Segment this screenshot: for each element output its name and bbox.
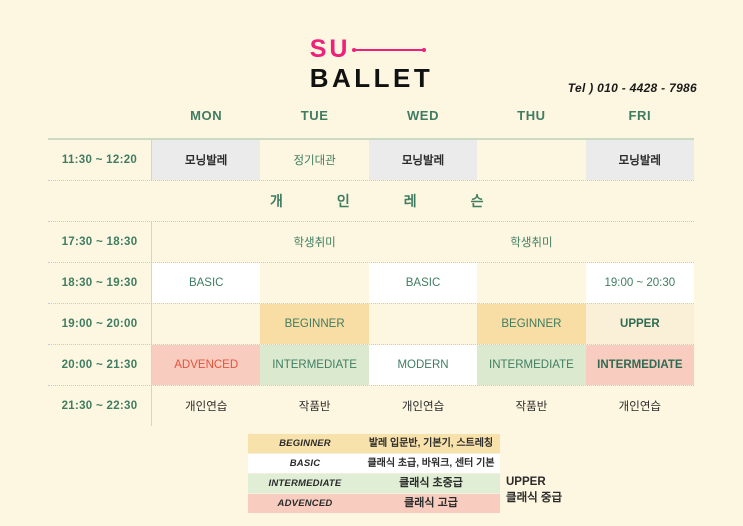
schedule-table: MON TUE WED THU FRI 11:30 ~ 12:20 모닝발레 정…: [48, 108, 694, 426]
row-time-label: 20:00 ~ 21:30: [48, 345, 152, 385]
legend-level-name: ADVENCED: [248, 494, 362, 513]
legend-row: BASIC 클래식 초급, 바워크, 센터 기본: [248, 454, 500, 474]
schedule-cell[interactable]: UPPER: [586, 304, 694, 344]
legend-row: ADVENCED 클래식 고급: [248, 494, 500, 513]
day-header-mon: MON: [152, 108, 260, 134]
schedule-cell[interactable]: 개인연습: [152, 386, 260, 426]
schedule-row: 17:30 ~ 18:30 학생취미 학생취미: [48, 222, 694, 263]
private-lesson-char: 인: [337, 191, 350, 211]
private-lesson-char: 레: [404, 191, 417, 211]
schedule-row: 18:30 ~ 19:30 BASIC BASIC 19:00 ~ 20:30: [48, 263, 694, 304]
schedule-cell[interactable]: 정기대관: [260, 140, 368, 180]
schedule-day-header: MON TUE WED THU FRI: [48, 108, 694, 134]
legend-level-name: BASIC: [248, 454, 362, 473]
schedule-cell[interactable]: INTERMEDIATE: [586, 345, 694, 385]
legend-level-description: 발레 입문반, 기본기, 스트레칭: [362, 434, 500, 453]
logo-ballet-text: BALLET: [310, 64, 434, 92]
schedule-cell[interactable]: [260, 263, 368, 303]
schedule-cell[interactable]: 학생취미: [260, 222, 368, 262]
private-lesson-banner: 개 인 레 슨: [152, 181, 694, 221]
schedule-cell[interactable]: [477, 263, 585, 303]
row-time-label: 21:30 ~ 22:30: [48, 386, 152, 426]
schedule-cell[interactable]: 학생취미: [477, 222, 585, 262]
schedule-cell[interactable]: MODERN: [369, 345, 477, 385]
schedule-row: 11:30 ~ 12:20 모닝발레 정기대관 모닝발레 모닝발레: [48, 140, 694, 181]
legend-level-description: 클래식 고급: [362, 494, 500, 513]
legend-row: INTERMEDIATE 클래식 초중급: [248, 474, 500, 494]
day-header-thu: THU: [477, 108, 585, 134]
schedule-cell[interactable]: INTERMEDIATE: [260, 345, 368, 385]
row-time-label: [48, 181, 152, 221]
schedule-cell[interactable]: [586, 222, 694, 262]
schedule-cell[interactable]: [369, 222, 477, 262]
legend-table: BEGINNER 발레 입문반, 기본기, 스트레칭 BASIC 클래식 초급,…: [248, 434, 500, 513]
schedule-cell[interactable]: BASIC: [369, 263, 477, 303]
schedule-cell[interactable]: INTERMEDIATE: [477, 345, 585, 385]
schedule-cell[interactable]: [152, 222, 260, 262]
row-time-label: 17:30 ~ 18:30: [48, 222, 152, 262]
legend-level-description: 클래식 초급, 바워크, 센터 기본: [362, 454, 500, 473]
legend-level-name: INTERMEDIATE: [248, 474, 362, 493]
legend-level-description: 클래식 초중급: [362, 474, 500, 493]
schedule-cell[interactable]: ADVENCED: [152, 345, 260, 385]
schedule-row: 21:30 ~ 22:30 개인연습 작품반 개인연습 작품반 개인연습: [48, 386, 694, 426]
schedule-cell[interactable]: 19:00 ~ 20:30: [586, 263, 694, 303]
schedule-cell[interactable]: 작품반: [260, 386, 368, 426]
schedule-cell[interactable]: 모닝발레: [586, 140, 694, 180]
private-lesson-char: 개: [270, 191, 283, 211]
row-time-label: 19:00 ~ 20:00: [48, 304, 152, 344]
schedule-cell[interactable]: [477, 140, 585, 180]
schedule-cell[interactable]: BEGINNER: [477, 304, 585, 344]
schedule-cell[interactable]: 모닝발레: [152, 140, 260, 180]
schedule-cell[interactable]: BEGINNER: [260, 304, 368, 344]
schedule-cell[interactable]: 모닝발레: [369, 140, 477, 180]
schedule-cell[interactable]: [369, 304, 477, 344]
row-time-label: 11:30 ~ 12:20: [48, 140, 152, 180]
schedule-cell[interactable]: [152, 304, 260, 344]
header-time-spacer: [48, 108, 152, 134]
day-header-tue: TUE: [260, 108, 368, 134]
legend-level-name: BEGINNER: [248, 434, 362, 453]
day-header-fri: FRI: [586, 108, 694, 134]
logo-stack: SU BALLET: [310, 38, 434, 92]
telephone-text: Tel ) 010 - 4428 - 7986: [568, 81, 697, 95]
upper-note-title: UPPER: [506, 474, 562, 490]
schedule-cell[interactable]: 개인연습: [586, 386, 694, 426]
page-header: SU BALLET Tel ) 010 - 4428 - 7986: [0, 0, 743, 108]
schedule-cell[interactable]: BASIC: [152, 263, 260, 303]
schedule-cell[interactable]: 개인연습: [369, 386, 477, 426]
logo-top-row: SU: [310, 38, 434, 62]
legend-row: BEGINNER 발레 입문반, 기본기, 스트레칭: [248, 434, 500, 454]
schedule-row-private: 개 인 레 슨: [48, 181, 694, 222]
upper-note-description: 클래식 중급: [506, 490, 562, 506]
day-header-wed: WED: [369, 108, 477, 134]
logo-line-decoration: [353, 49, 425, 51]
private-lesson-char: 슨: [471, 191, 484, 211]
schedule-cell[interactable]: 작품반: [477, 386, 585, 426]
schedule-row: 20:00 ~ 21:30 ADVENCED INTERMEDIATE MODE…: [48, 345, 694, 386]
row-time-label: 18:30 ~ 19:30: [48, 263, 152, 303]
upper-note: UPPER 클래식 중급: [506, 474, 562, 506]
schedule-row: 19:00 ~ 20:00 BEGINNER BEGINNER UPPER: [48, 304, 694, 345]
logo-su-text: SU: [310, 38, 351, 60]
